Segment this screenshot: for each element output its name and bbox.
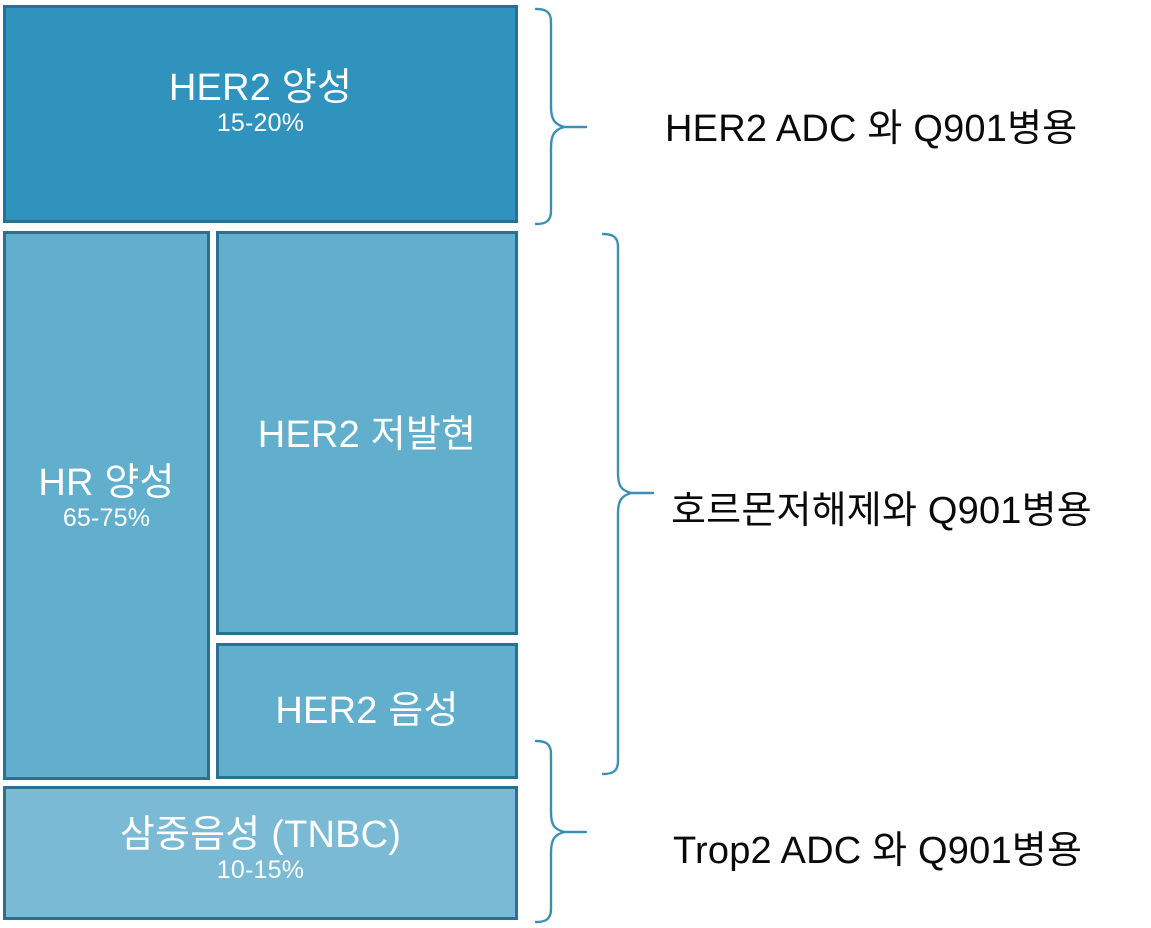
block-her2-positive: HER2 양성 15-20% bbox=[3, 5, 518, 223]
label-trop2-adc: Trop2 ADC 와 Q901병용 bbox=[673, 832, 1082, 870]
block-hr-positive: HR 양성 65-75% bbox=[3, 231, 210, 780]
block-tnbc-text: 삼중음성 (TNBC) 10-15% bbox=[120, 815, 401, 884]
block-her2-positive-percent: 15-20% bbox=[169, 110, 352, 137]
block-hr-positive-text: HR 양성 65-75% bbox=[38, 463, 174, 532]
block-hr-positive-title: HR 양성 bbox=[38, 463, 174, 503]
block-her2-low-text: HER2 저발현 bbox=[258, 415, 476, 455]
block-tnbc-percent: 10-15% bbox=[120, 857, 401, 884]
block-tnbc-title: 삼중음성 (TNBC) bbox=[120, 815, 401, 855]
brace-trop2 bbox=[518, 732, 628, 928]
block-her2-low-title: HER2 저발현 bbox=[258, 415, 476, 455]
diagram-canvas: HER2 양성 15-20% HR 양성 65-75% HER2 저발현 HER… bbox=[0, 0, 1151, 928]
label-her2-adc: HER2 ADC 와 Q901병용 bbox=[665, 110, 1077, 148]
block-her2-low: HER2 저발현 bbox=[216, 231, 518, 635]
block-hr-positive-percent: 65-75% bbox=[38, 505, 174, 532]
label-hormone-inhibitor: 호르몬저해제와 Q901병용 bbox=[671, 492, 1092, 530]
block-her2-negative-text: HER2 음성 bbox=[275, 691, 458, 731]
block-her2-positive-title: HER2 양성 bbox=[169, 68, 352, 108]
block-her2-negative-title: HER2 음성 bbox=[275, 691, 458, 731]
block-tnbc: 삼중음성 (TNBC) 10-15% bbox=[3, 786, 518, 920]
brace-her2-positive bbox=[518, 0, 628, 240]
block-her2-negative: HER2 음성 bbox=[216, 643, 518, 779]
block-her2-positive-text: HER2 양성 15-20% bbox=[169, 68, 352, 137]
